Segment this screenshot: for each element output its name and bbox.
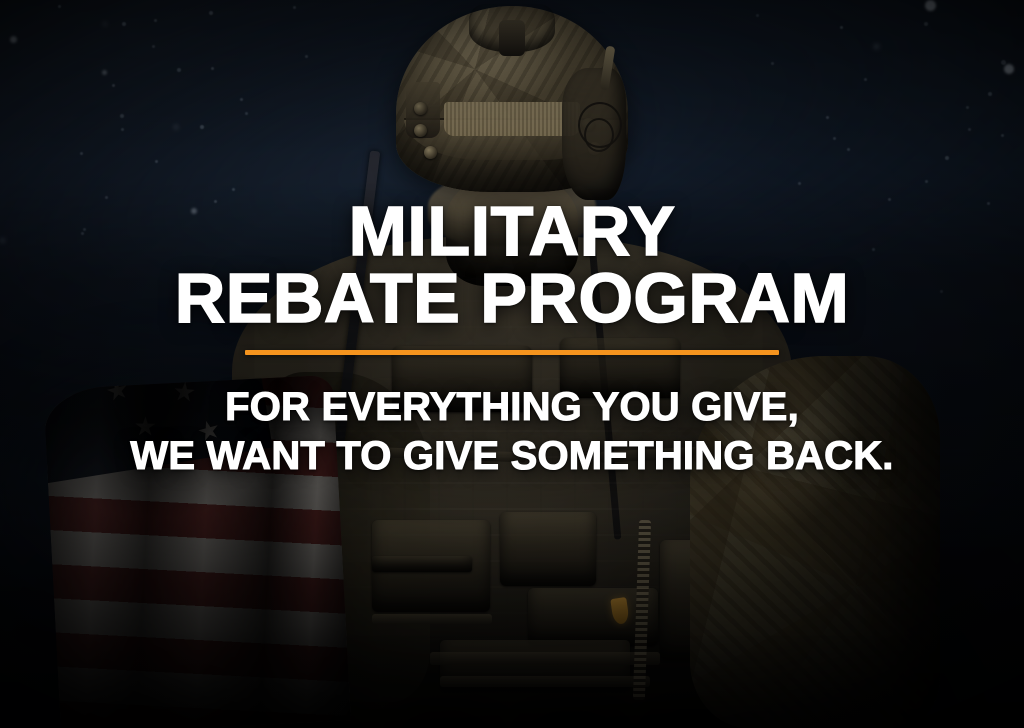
page-title: MILITARY REBATE PROGRAM (175, 198, 850, 332)
subheadline-line-1: FOR EVERYTHING YOU GIVE, (130, 383, 893, 432)
nvg-arm (499, 20, 525, 56)
combat-helmet (396, 6, 628, 192)
subheadline-line-2: WE WANT TO GIVE SOMETHING BACK. (130, 432, 893, 481)
helmet-velcro-panel (444, 102, 580, 136)
gear-strap (372, 614, 492, 624)
headline-line-2: REBATE PROGRAM (175, 265, 850, 332)
gear-pouch (372, 556, 472, 572)
helmet-bolt (414, 102, 427, 115)
gear-strap (430, 652, 660, 665)
page-subtitle: FOR EVERYTHING YOU GIVE, WE WANT TO GIVE… (130, 383, 893, 481)
military-rebate-hero-banner: ★★★★★★★ MILITARY REBATE PROGRAM FOR EVER… (0, 0, 1024, 728)
gear-pouch (500, 512, 596, 586)
gear-strap (440, 676, 650, 687)
headline-line-1: MILITARY (175, 198, 850, 265)
helmet-bolt (414, 124, 427, 137)
soldier-photo: ★★★★★★★ (0, 0, 1024, 728)
comms-cable-inner (584, 118, 614, 152)
orange-divider (245, 350, 779, 355)
helmet-bolt (424, 146, 437, 159)
